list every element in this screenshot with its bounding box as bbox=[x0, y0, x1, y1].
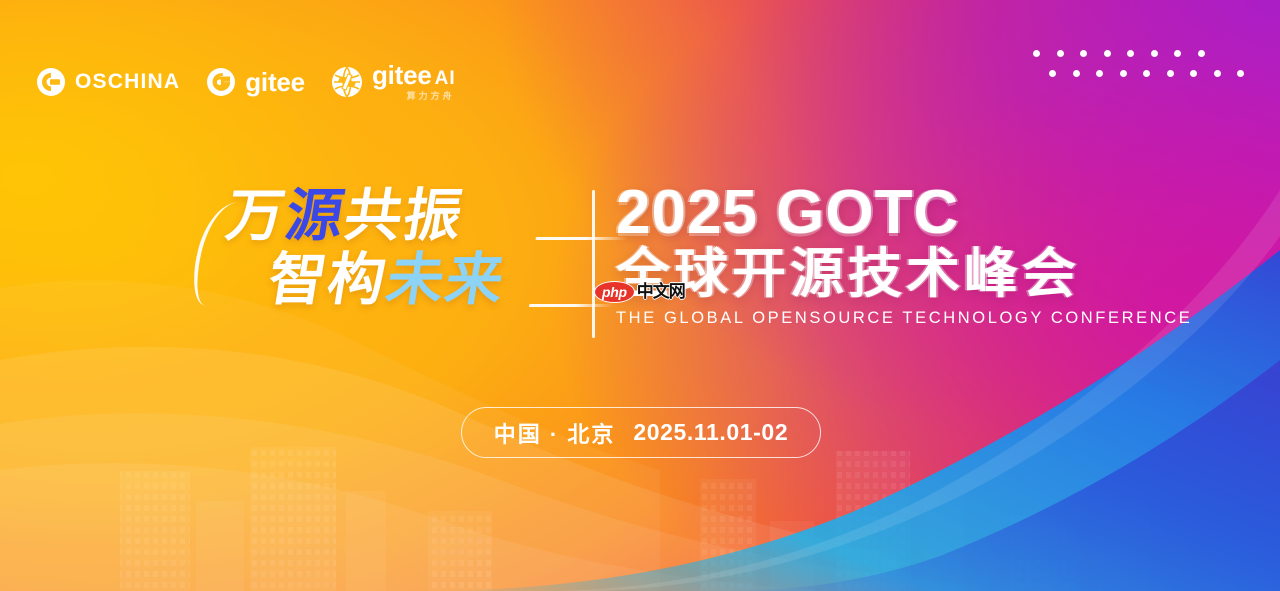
logo-oschina-label: OSCHINA bbox=[75, 71, 180, 92]
dot bbox=[1073, 70, 1080, 77]
event-date: 2025.11.01-02 bbox=[633, 419, 788, 446]
slogan-line-2-accent: 未来 bbox=[382, 248, 510, 312]
dot bbox=[1214, 70, 1221, 77]
event-date-pill: 中国 · 北京 2025.11.01-02 bbox=[461, 407, 821, 458]
dot-grid-decoration bbox=[1033, 48, 1244, 78]
event-title-block: 2025 GOTC 全球开源技术峰会 THE GLOBAL OPENSOURCE… bbox=[616, 182, 1096, 328]
slogan-line-2: 智构未来 bbox=[264, 250, 582, 310]
gitee-g-icon bbox=[206, 67, 236, 97]
event-location: 中国 · 北京 bbox=[494, 417, 616, 449]
vertical-divider bbox=[592, 190, 595, 338]
dot bbox=[1167, 70, 1174, 77]
dot bbox=[1033, 50, 1040, 57]
logo-gitee-ai[interactable]: gitee AI 算力方舟 bbox=[331, 62, 456, 101]
dot bbox=[1104, 50, 1111, 57]
logo-gitee-label: gitee bbox=[245, 69, 305, 95]
php-watermark-text: 中文网 bbox=[637, 282, 685, 302]
partner-logo-row: OSCHINA gitee bbox=[36, 62, 456, 101]
slogan-headline: 万源共振 智构未来 bbox=[212, 186, 592, 311]
slogan-line-2-part-1: 智构 bbox=[264, 248, 392, 312]
event-title-english: THE GLOBAL OPENSOURCE TECHNOLOGY CONFERE… bbox=[616, 309, 1096, 328]
slogan-line-1-part-3: 共振 bbox=[340, 184, 468, 248]
gotc-conference-banner: OSCHINA gitee bbox=[0, 0, 1280, 591]
event-title-chinese: 全球开源技术峰会 bbox=[616, 246, 1096, 302]
dot-grid-row-2 bbox=[1049, 68, 1244, 78]
event-title-gotc: 2025 GOTC bbox=[616, 182, 1096, 244]
slogan-line-1-accent: 源 bbox=[281, 184, 350, 248]
php-watermark: php 中文网 bbox=[594, 281, 685, 303]
logo-gitee-ai-suffix: AI bbox=[435, 68, 456, 90]
dot bbox=[1127, 50, 1134, 57]
logo-gitee[interactable]: gitee bbox=[206, 67, 305, 97]
dot bbox=[1237, 70, 1244, 77]
dot-grid-row-1 bbox=[1033, 48, 1244, 58]
dot bbox=[1143, 70, 1150, 77]
dot bbox=[1080, 50, 1087, 57]
dot bbox=[1174, 50, 1181, 57]
dot bbox=[1049, 70, 1056, 77]
dot bbox=[1190, 70, 1197, 77]
php-watermark-badge: php bbox=[594, 281, 635, 303]
dot bbox=[1198, 50, 1205, 57]
dot bbox=[1151, 50, 1158, 57]
logo-gitee-ai-subtitle: 算力方舟 bbox=[407, 92, 455, 101]
slogan-streak-2 bbox=[529, 304, 613, 307]
slogan-streak-1 bbox=[535, 237, 627, 240]
gitee-ai-globe-icon bbox=[331, 66, 363, 98]
dot bbox=[1120, 70, 1127, 77]
dot bbox=[1096, 70, 1103, 77]
slogan-line-1-part-1: 万 bbox=[222, 184, 291, 248]
oschina-c-icon bbox=[36, 67, 66, 97]
dot bbox=[1057, 50, 1064, 57]
logo-oschina[interactable]: OSCHINA bbox=[36, 67, 180, 97]
logo-gitee-ai-label: gitee bbox=[372, 62, 432, 88]
slogan-line-1: 万源共振 bbox=[222, 186, 592, 246]
